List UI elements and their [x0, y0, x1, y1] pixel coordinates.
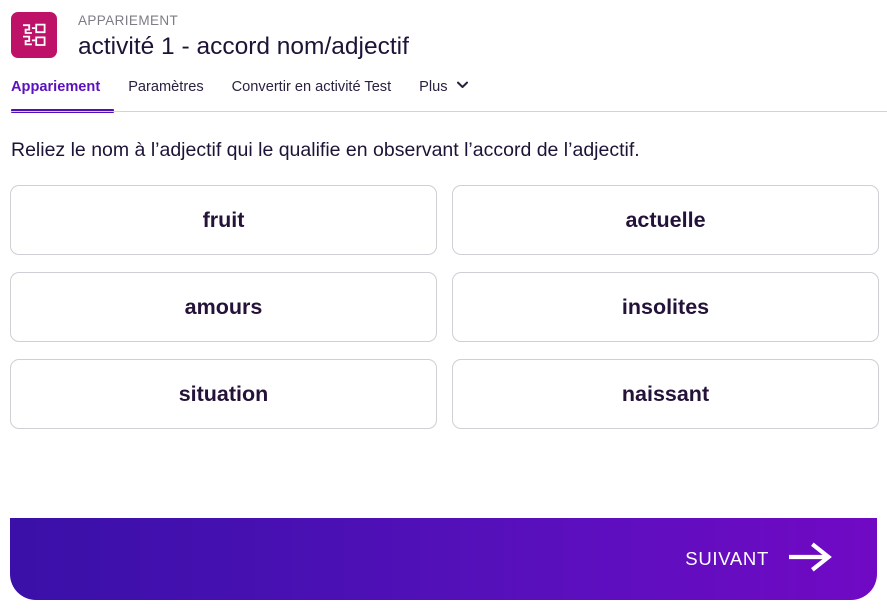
- match-card-label: naissant: [622, 382, 709, 407]
- chevron-down-icon: [457, 75, 468, 95]
- tab-plus-label: Plus: [419, 79, 447, 95]
- match-card-left-2[interactable]: amours: [10, 272, 437, 342]
- matching-pairs-icon: [11, 12, 57, 58]
- match-card-right-1[interactable]: actuelle: [452, 185, 879, 255]
- match-card-right-2[interactable]: insolites: [452, 272, 879, 342]
- matching-grid: fruit actuelle amours insolites situatio…: [0, 185, 887, 429]
- match-card-label: insolites: [622, 295, 709, 320]
- tab-bar-divider: [11, 111, 887, 112]
- match-card-label: amours: [185, 295, 263, 320]
- tab-bar: Appariement Paramètres Convertir en acti…: [0, 66, 887, 113]
- next-button-label: SUIVANT: [685, 548, 769, 570]
- next-button[interactable]: SUIVANT: [10, 518, 877, 600]
- page-title: activité 1 - accord nom/adjectif: [78, 32, 409, 62]
- tab-parametres[interactable]: Paramètres: [114, 66, 217, 113]
- activity-header: APPARIEMENT activité 1 - accord nom/adje…: [0, 0, 887, 66]
- match-card-label: actuelle: [625, 208, 705, 233]
- tab-plus[interactable]: Plus: [405, 66, 481, 113]
- tab-appariement-label: Appariement: [11, 79, 100, 95]
- match-card-label: fruit: [203, 208, 245, 233]
- tab-convertir-en-activite-test[interactable]: Convertir en activité Test: [218, 66, 406, 113]
- match-card-left-1[interactable]: fruit: [10, 185, 437, 255]
- activity-type-label: APPARIEMENT: [78, 13, 409, 29]
- match-card-left-3[interactable]: situation: [10, 359, 437, 429]
- activity-instruction: Reliez le nom à l’adjectif qui le qualif…: [0, 113, 887, 163]
- match-card-right-3[interactable]: naissant: [452, 359, 879, 429]
- arrow-right-icon: [787, 542, 833, 577]
- tab-convertir-label: Convertir en activité Test: [232, 79, 392, 95]
- match-card-label: situation: [179, 382, 269, 407]
- header-text-block: APPARIEMENT activité 1 - accord nom/adje…: [78, 11, 409, 62]
- tab-parametres-label: Paramètres: [128, 79, 203, 95]
- tab-appariement[interactable]: Appariement: [11, 66, 114, 113]
